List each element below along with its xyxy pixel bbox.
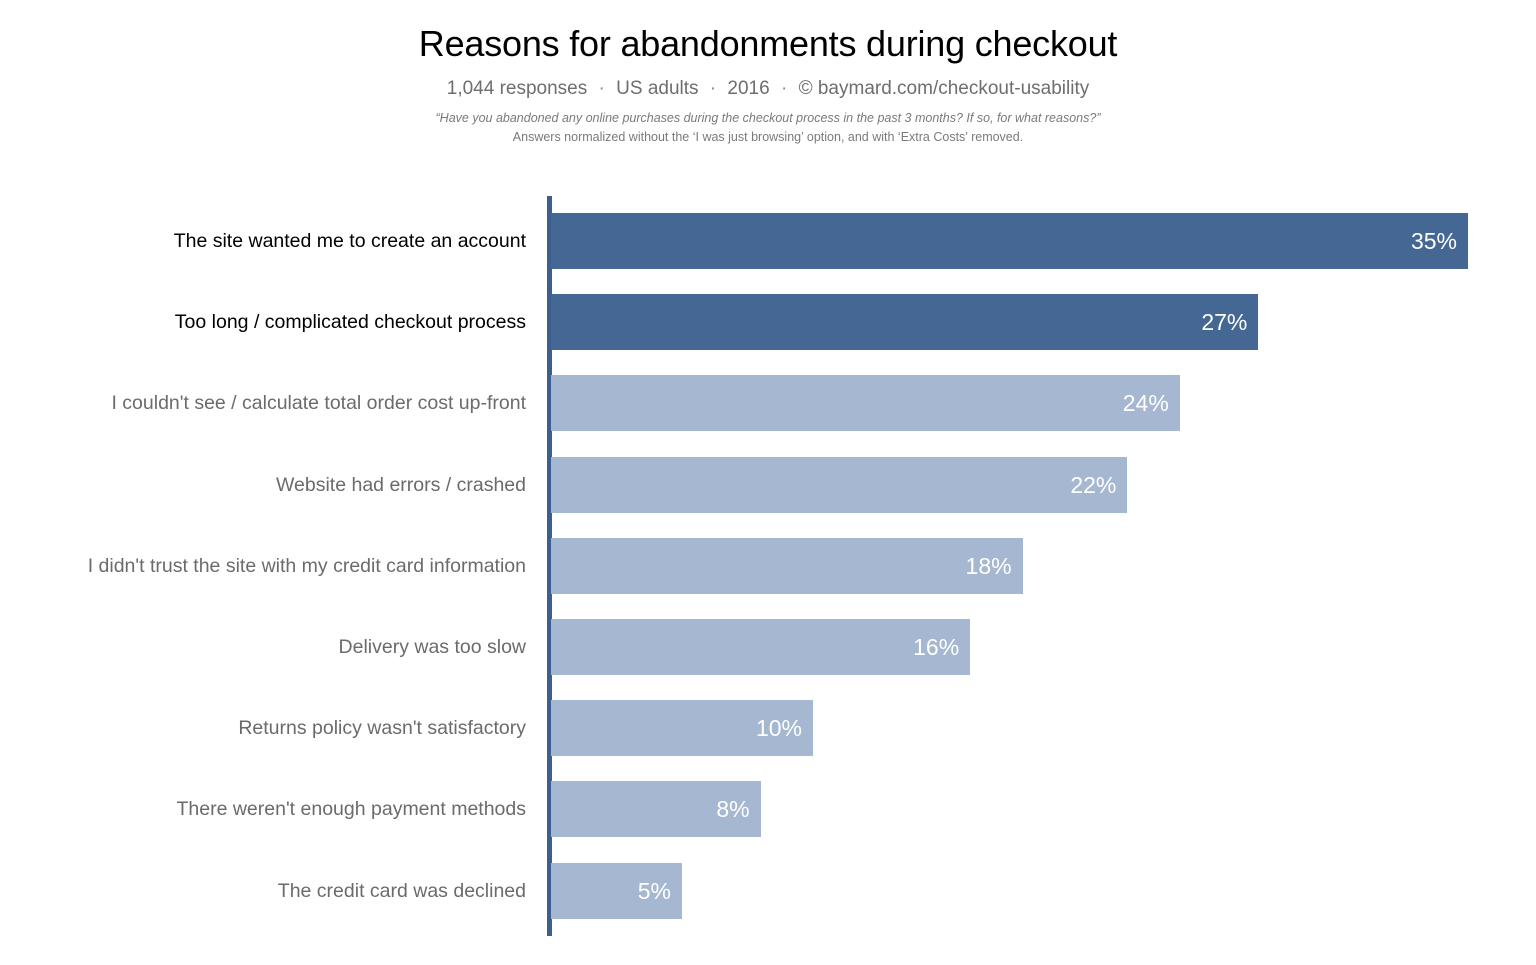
subtitle-separator-3: · <box>775 78 793 99</box>
bar-row[interactable]: I couldn't see / calculate total order c… <box>0 375 1536 431</box>
bar-value-label: 22% <box>1070 457 1116 513</box>
bar[interactable]: 22% <box>551 457 1127 513</box>
bar-value-label: 8% <box>716 781 749 837</box>
bar-category-label: Website had errors / crashed <box>276 457 526 513</box>
bar-value-label: 10% <box>756 700 802 756</box>
bar-row[interactable]: Website had errors / crashed22% <box>0 457 1536 513</box>
bar-row[interactable]: Returns policy wasn't satisfactory10% <box>0 700 1536 756</box>
bar-category-label: There weren't enough payment methods <box>176 781 526 837</box>
bar-category-label: Returns policy wasn't satisfactory <box>238 700 526 756</box>
bar-row[interactable]: Too long / complicated checkout process2… <box>0 294 1536 350</box>
subtitle-source: © baymard.com/checkout-usability <box>799 78 1090 99</box>
bar-row[interactable]: I didn't trust the site with my credit c… <box>0 538 1536 594</box>
bar[interactable]: 5% <box>551 863 682 919</box>
y-axis-line <box>547 196 552 936</box>
bar-row[interactable]: The credit card was declined5% <box>0 863 1536 919</box>
bar[interactable]: 24% <box>551 375 1180 431</box>
bar[interactable]: 35% <box>551 213 1468 269</box>
bar-row[interactable]: There weren't enough payment methods8% <box>0 781 1536 837</box>
page-title: Reasons for abandonments during checkout <box>0 20 1536 68</box>
bar-category-label: I couldn't see / calculate total order c… <box>111 375 526 431</box>
bar[interactable]: 10% <box>551 700 813 756</box>
subtitle-year: 2016 <box>727 78 769 99</box>
bar-value-label: 27% <box>1201 294 1247 350</box>
bar-value-label: 24% <box>1123 375 1169 431</box>
bar[interactable]: 27% <box>551 294 1258 350</box>
subtitle-population: US adults <box>616 78 698 99</box>
chart-question-note: “Have you abandoned any online purchases… <box>0 109 1536 128</box>
bar-category-label: The credit card was declined <box>278 863 526 919</box>
bar[interactable]: 8% <box>551 781 761 837</box>
bar-value-label: 35% <box>1411 213 1457 269</box>
bar-value-label: 16% <box>913 619 959 675</box>
chart-normalization-note: Answers normalized without the ‘I was ju… <box>0 128 1536 147</box>
subtitle-separator-1: · <box>593 78 611 99</box>
bar-value-label: 5% <box>638 863 671 919</box>
bar-category-label: Too long / complicated checkout process <box>175 294 526 350</box>
bar-row[interactable]: Delivery was too slow16% <box>0 619 1536 675</box>
bar-value-label: 18% <box>966 538 1012 594</box>
bar-category-label: The site wanted me to create an account <box>174 213 526 269</box>
bar-category-label: I didn't trust the site with my credit c… <box>88 538 526 594</box>
bar[interactable]: 16% <box>551 619 970 675</box>
subtitle-responses: 1,044 responses <box>447 78 588 99</box>
bar-category-label: Delivery was too slow <box>339 619 526 675</box>
subtitle-separator-2: · <box>704 78 722 99</box>
chart-header: Reasons for abandonments during checkout… <box>0 0 1536 147</box>
chart-subtitle: 1,044 responses · US adults · 2016 · © b… <box>0 74 1536 104</box>
bar-row[interactable]: The site wanted me to create an account3… <box>0 213 1536 269</box>
bar[interactable]: 18% <box>551 538 1023 594</box>
